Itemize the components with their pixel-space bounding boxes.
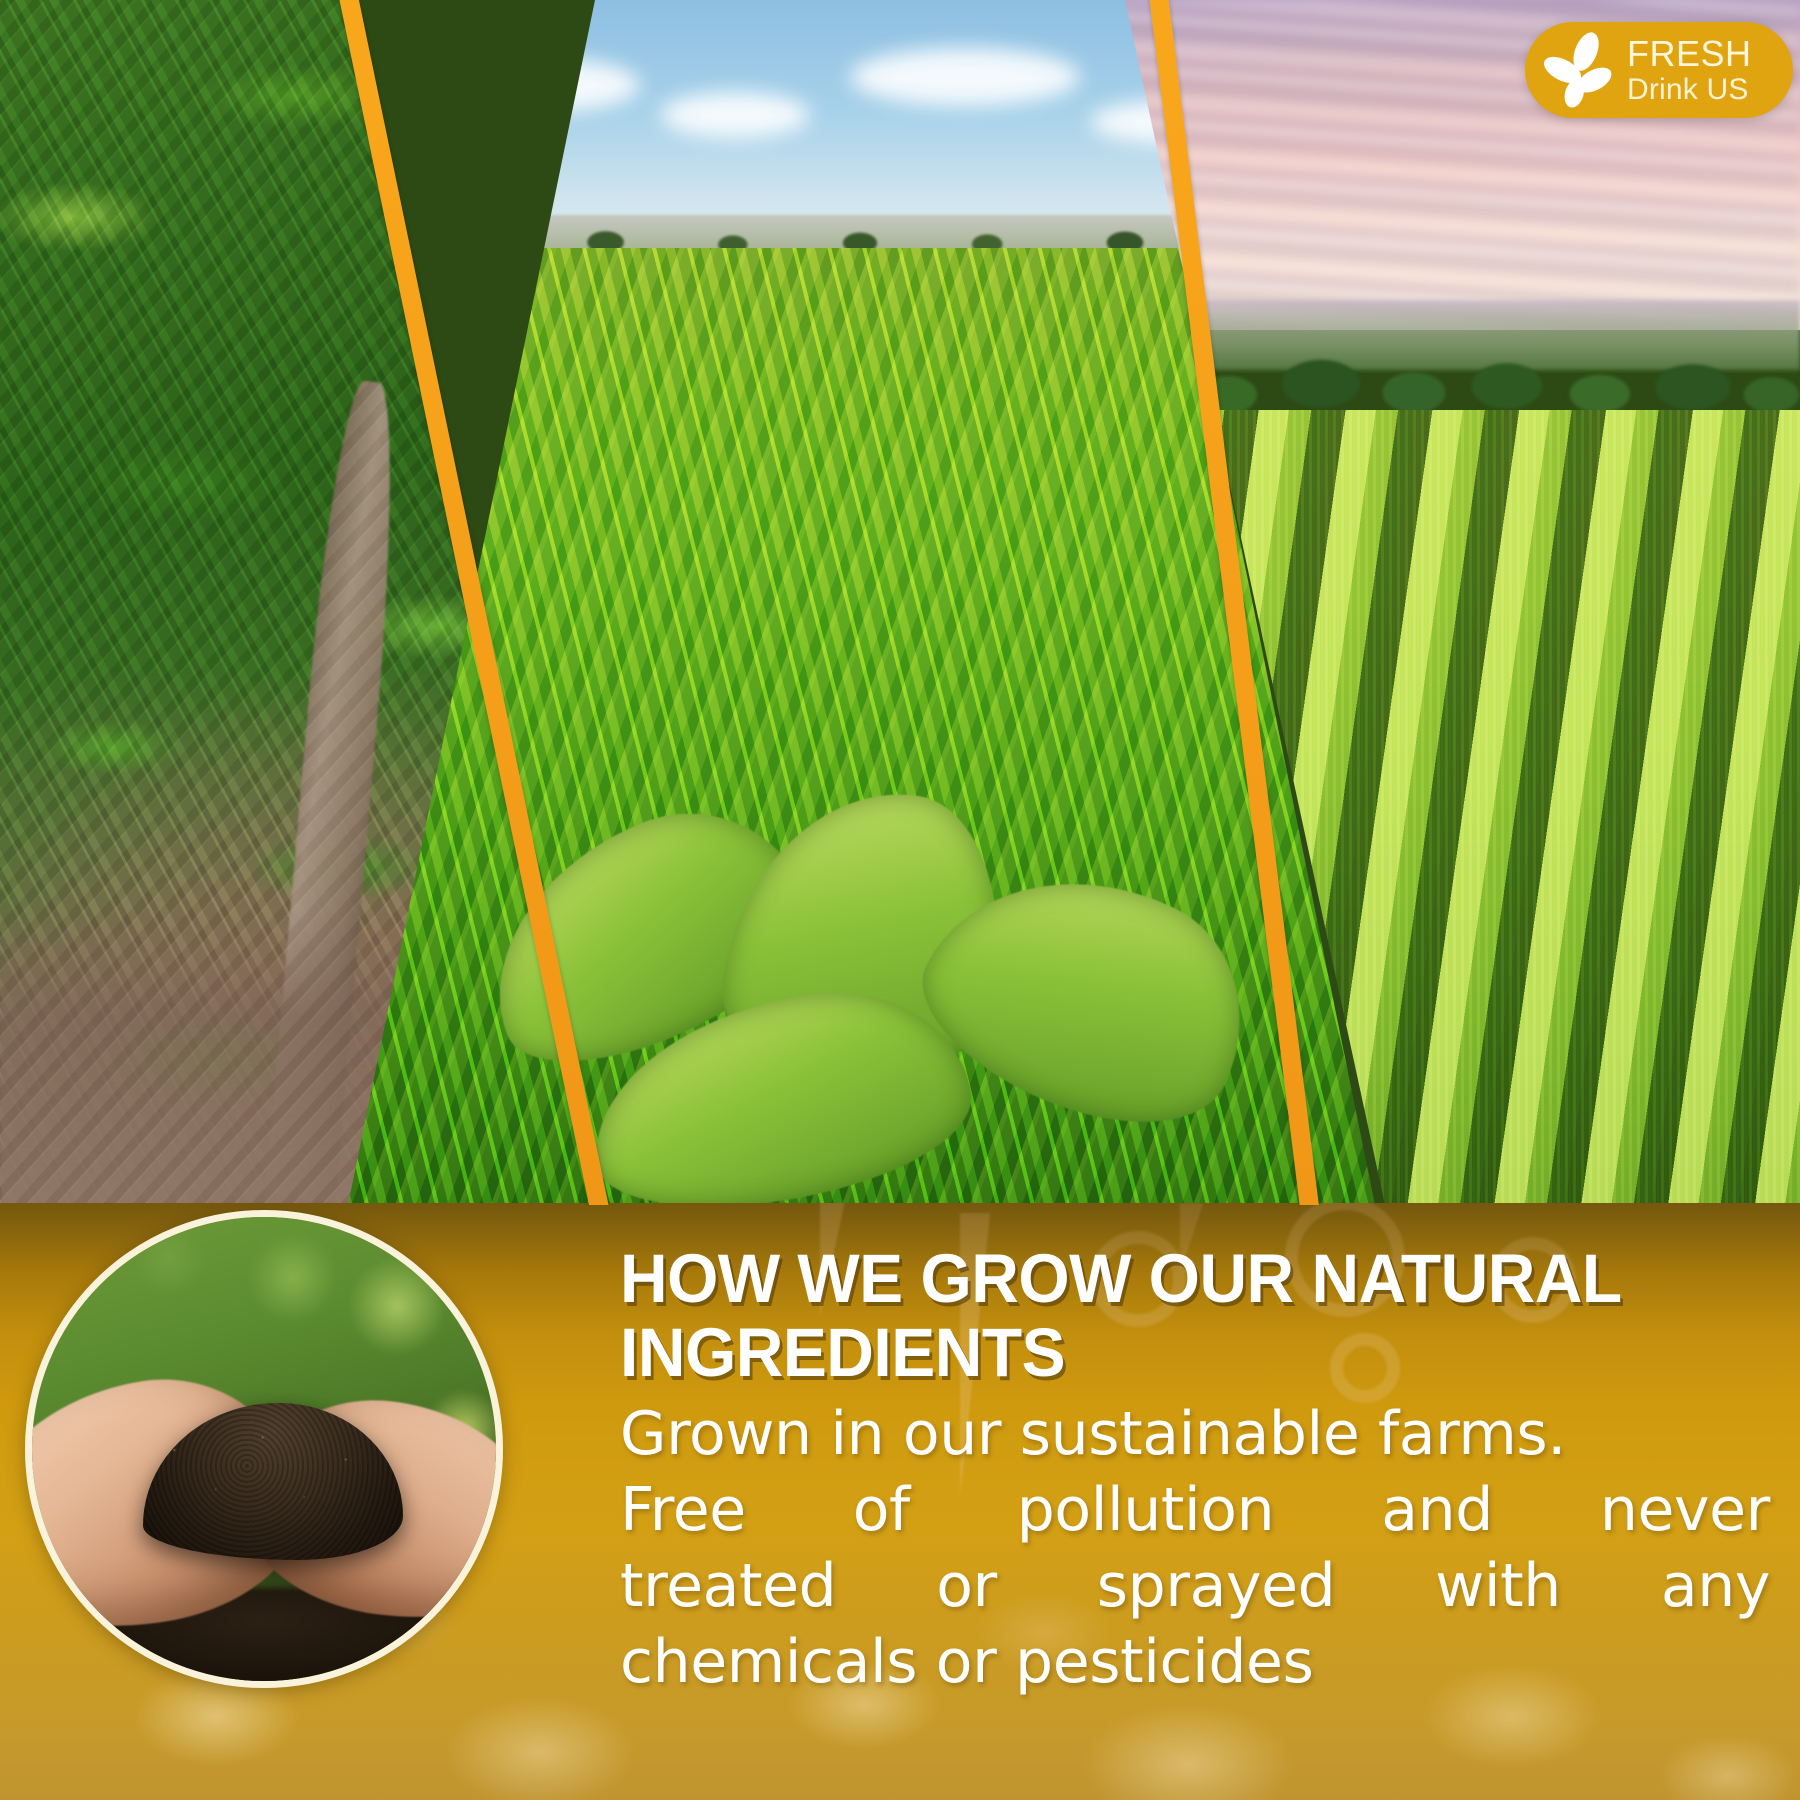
cloud [850, 48, 1080, 106]
brand-badge[interactable]: FRESH Drink US [1525, 22, 1793, 118]
body-copy: Grown in our sustainable farms. Free of … [620, 1396, 1770, 1701]
body-line-4: chemicals or pesticides [620, 1624, 1770, 1700]
word: Free [620, 1472, 746, 1548]
word: pollution [1017, 1472, 1275, 1548]
brand-name: FRESH [1627, 36, 1752, 72]
body-line-1: Grown in our sustainable farms. [620, 1396, 1770, 1472]
word: sprayed [1097, 1548, 1336, 1624]
word: treated [620, 1548, 836, 1624]
cloud [660, 92, 810, 138]
headline-line-1: HOW WE GROW OUR NATURAL [620, 1242, 1718, 1316]
word: any [1661, 1548, 1770, 1624]
four-leaf-logo-icon [1539, 28, 1623, 112]
photo-strip [0, 0, 1800, 1205]
word: of [853, 1472, 910, 1548]
word: and [1381, 1472, 1493, 1548]
headline: HOW WE GROW OUR NATURAL INGREDIENTS [620, 1242, 1718, 1390]
promotional-poster: FRESH Drink US HOW WE GROW OUR NATURAL I… [0, 0, 1800, 1800]
headline-line-2: INGREDIENTS [620, 1316, 1718, 1390]
cloud [450, 58, 640, 112]
word: never [1600, 1472, 1770, 1548]
brand-wordmark: FRESH Drink US [1627, 36, 1752, 105]
word: with [1435, 1548, 1561, 1624]
text-block: HOW WE GROW OUR NATURAL INGREDIENTS Grow… [620, 1242, 1770, 1700]
body-line-3: treated or sprayed with any [620, 1548, 1770, 1624]
brand-subtitle: Drink US [1627, 75, 1752, 105]
body-line-2: Free of pollution and never [620, 1472, 1770, 1548]
word: or [936, 1548, 997, 1624]
soil-in-hands-inset-photo [25, 1210, 503, 1688]
